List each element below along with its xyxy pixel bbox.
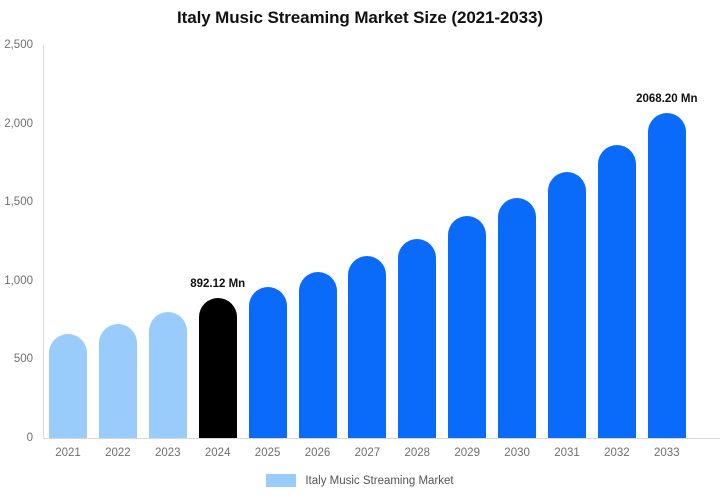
bar-2025[interactable] [249,287,287,438]
y-axis-tick-label: 0 [0,432,33,444]
legend-swatch-italy-music-streaming-market [266,474,296,487]
bar-2029[interactable] [448,216,486,438]
bar-2027[interactable] [348,256,386,438]
bar-2032[interactable] [598,145,636,438]
bar-2031[interactable] [548,172,586,438]
y-axis-tick-label: 1,000 [0,275,33,287]
plot-area [43,45,720,438]
chart-legend: Italy Music Streaming Market [0,474,720,487]
bar-2022[interactable] [99,324,137,438]
bar-2033[interactable] [648,113,686,438]
chart-container: Italy Music Streaming Market Size (2021-… [0,0,720,500]
bar-value-label-2024: 892.12 Mn [190,278,245,290]
x-axis-tick-label-2033: 2033 [637,447,697,459]
y-axis-tick-label: 2,000 [0,118,33,130]
bar-2028[interactable] [398,239,436,438]
x-axis-line [43,438,720,439]
bar-value-label-2033: 2068.20 Mn [636,93,697,105]
bar-2023[interactable] [149,312,187,438]
y-axis-tick-label: 1,500 [0,196,33,208]
y-axis-tick-label: 500 [0,353,33,365]
bar-2026[interactable] [299,272,337,438]
bar-2024[interactable] [199,298,237,438]
bar-2030[interactable] [498,198,536,438]
legend-label-italy-music-streaming-market: Italy Music Streaming Market [305,475,453,487]
y-axis-tick-label: 2,500 [0,39,33,51]
bar-2021[interactable] [49,334,87,438]
chart-title: Italy Music Streaming Market Size (2021-… [0,8,720,28]
